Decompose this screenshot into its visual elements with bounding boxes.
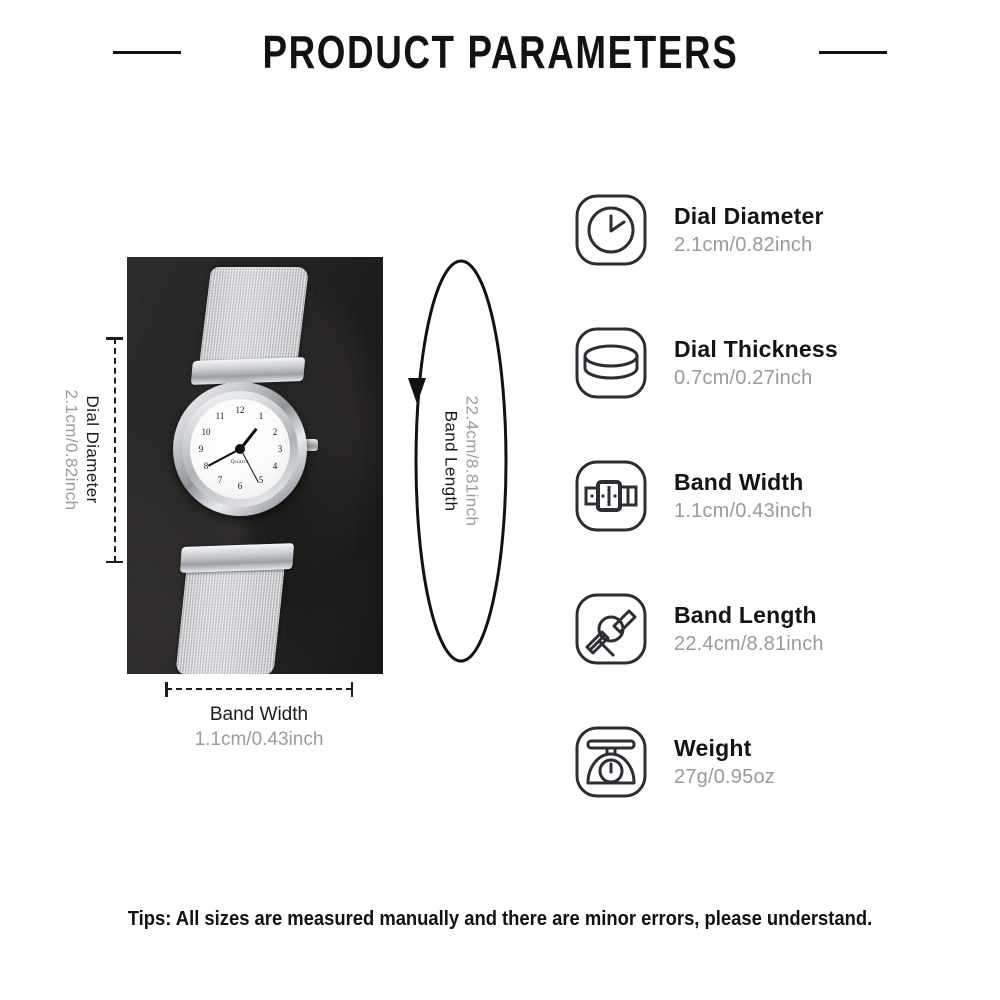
- clock-icon: [572, 191, 650, 269]
- hand-center-cap: [235, 444, 245, 454]
- kitchen-scale-icon: [572, 723, 650, 801]
- dial-diameter-label: Dial Diameter: [82, 396, 102, 504]
- spec-value: 27g/0.95oz: [674, 767, 775, 788]
- spec-value: 22.4cm/8.81inch: [674, 634, 824, 655]
- band-width-value: 1.1cm/0.43inch: [160, 729, 358, 751]
- spec-label: Band Width: [674, 470, 812, 494]
- watch-case: 12 1 2 3 4 5 6 7 8 9 10 11 Quartz: [173, 382, 307, 516]
- band-length-label: Band Length: [441, 411, 461, 512]
- dimension-cap-right: [351, 682, 354, 697]
- watch-clasp-top: [191, 357, 306, 385]
- dimension-dial-diameter: Dial Diameter 2.1cm/0.82inch: [52, 330, 124, 570]
- dial-numeral: 2: [268, 427, 282, 437]
- dial-brand-text: Quartz: [190, 459, 290, 465]
- title-rule-left: [113, 51, 181, 54]
- spec-value: 1.1cm/0.43inch: [674, 501, 812, 522]
- spec-value: 2.1cm/0.82inch: [674, 235, 824, 256]
- dial-numeral: 7: [213, 475, 227, 485]
- spec-label: Dial Thickness: [674, 337, 838, 361]
- watch-dial: 12 1 2 3 4 5 6 7 8 9 10 11 Quartz: [190, 399, 290, 499]
- dial-numeral: 9: [194, 444, 208, 454]
- dial-numeral: 11: [213, 411, 227, 421]
- tips-note: Tips: All sizes are measured manually an…: [40, 908, 960, 931]
- dial-numeral: 10: [199, 427, 213, 437]
- page-title: PRODUCT PARAMETERS: [262, 25, 738, 79]
- dial-numeral: 3: [273, 444, 287, 454]
- dimension-line: [114, 338, 116, 562]
- watch-band-bottom: [175, 567, 284, 674]
- spec-label: Dial Diameter: [674, 204, 824, 228]
- spec-value: 0.7cm/0.27inch: [674, 368, 838, 389]
- spec-row-dial-thickness: Dial Thickness 0.7cm/0.27inch: [572, 313, 972, 413]
- watch-clasp-bottom: [180, 543, 294, 573]
- second-hand: [240, 449, 259, 483]
- cylinder-icon: [572, 324, 650, 402]
- dial-numeral: 6: [233, 481, 247, 491]
- spec-label: Band Length: [674, 603, 824, 627]
- page-header: PRODUCT PARAMETERS: [0, 22, 1000, 82]
- spec-label: Weight: [674, 736, 775, 760]
- spec-row-weight: Weight 27g/0.95oz: [572, 712, 972, 812]
- watch-bezel: 12 1 2 3 4 5 6 7 8 9 10 11 Quartz: [182, 391, 298, 507]
- spec-list: Dial Diameter 2.1cm/0.82inch Dial Thickn…: [572, 180, 972, 845]
- watch-band-top: [199, 267, 309, 367]
- band-width-label: Band Width: [160, 704, 358, 726]
- dial-numeral: 1: [254, 411, 268, 421]
- dial-diameter-value: 2.1cm/0.82inch: [61, 390, 81, 511]
- dial-numeral: 12: [233, 405, 247, 415]
- watch-diagonal-icon: [572, 590, 650, 668]
- title-rule-right: [819, 51, 887, 54]
- dimension-band-width: Band Width 1.1cm/0.43inch: [160, 682, 358, 751]
- dimension-line: [166, 688, 352, 690]
- band-length-value: 22.4cm/8.81inch: [462, 396, 482, 527]
- dimension-band-length: Band Length 22.4cm/8.81inch: [398, 252, 524, 670]
- watch-product: 12 1 2 3 4 5 6 7 8 9 10 11 Quartz: [145, 267, 335, 667]
- dimension-cap-bottom: [106, 561, 123, 564]
- spec-row-band-length: Band Length 22.4cm/8.81inch: [572, 579, 972, 679]
- buckle-icon: [572, 457, 650, 535]
- product-photo: 12 1 2 3 4 5 6 7 8 9 10 11 Quartz: [127, 257, 383, 674]
- spec-row-band-width: Band Width 1.1cm/0.43inch: [572, 446, 972, 546]
- spec-row-dial-diameter: Dial Diameter 2.1cm/0.82inch: [572, 180, 972, 280]
